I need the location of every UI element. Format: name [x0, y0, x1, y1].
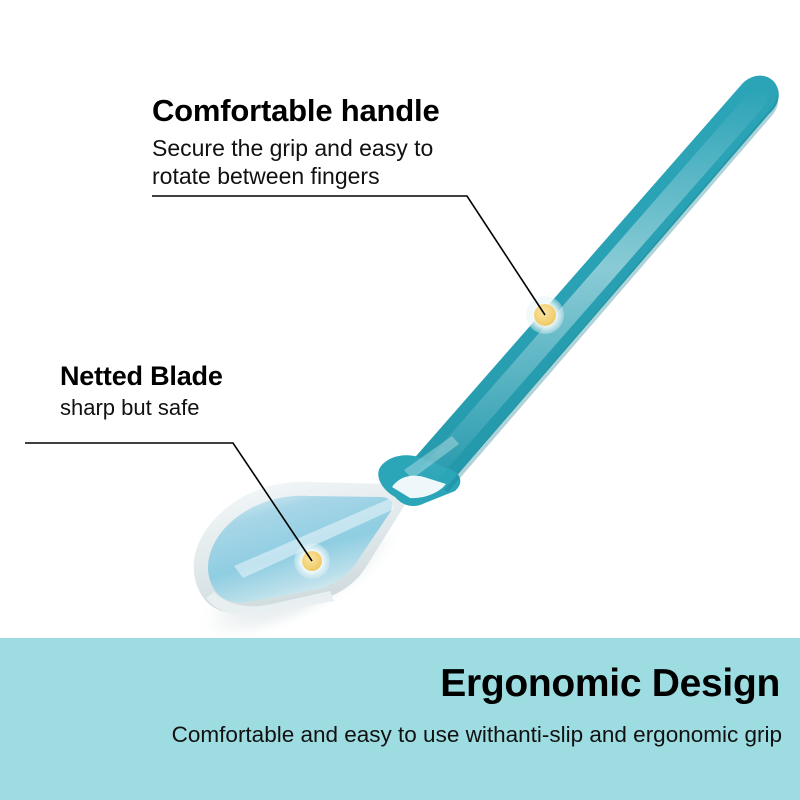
marker-handle — [526, 296, 564, 334]
marker-dot — [534, 304, 556, 326]
marker-blade — [294, 543, 330, 579]
callout-comfortable-handle: Comfortable handle Secure the grip and e… — [152, 95, 439, 190]
handle-highlight — [416, 90, 768, 486]
bottom-banner: Ergonomic Design Comfortable and easy to… — [0, 638, 800, 800]
callout-subtitle-comfortable-handle: Secure the grip and easy to rotate betwe… — [152, 134, 439, 190]
callout-subtitle-netted-blade: sharp but safe — [60, 395, 223, 422]
banner-title: Ergonomic Design — [440, 662, 780, 706]
marker-dot — [302, 551, 322, 571]
banner-subtitle: Comfortable and easy to use withanti-sli… — [172, 722, 782, 748]
callout-title-netted-blade: Netted Blade — [60, 362, 223, 390]
product-infographic: Comfortable handle Secure the grip and e… — [0, 0, 800, 800]
callout-title-comfortable-handle: Comfortable handle — [152, 95, 439, 128]
callout-netted-blade: Netted Blade sharp but safe — [60, 362, 223, 422]
